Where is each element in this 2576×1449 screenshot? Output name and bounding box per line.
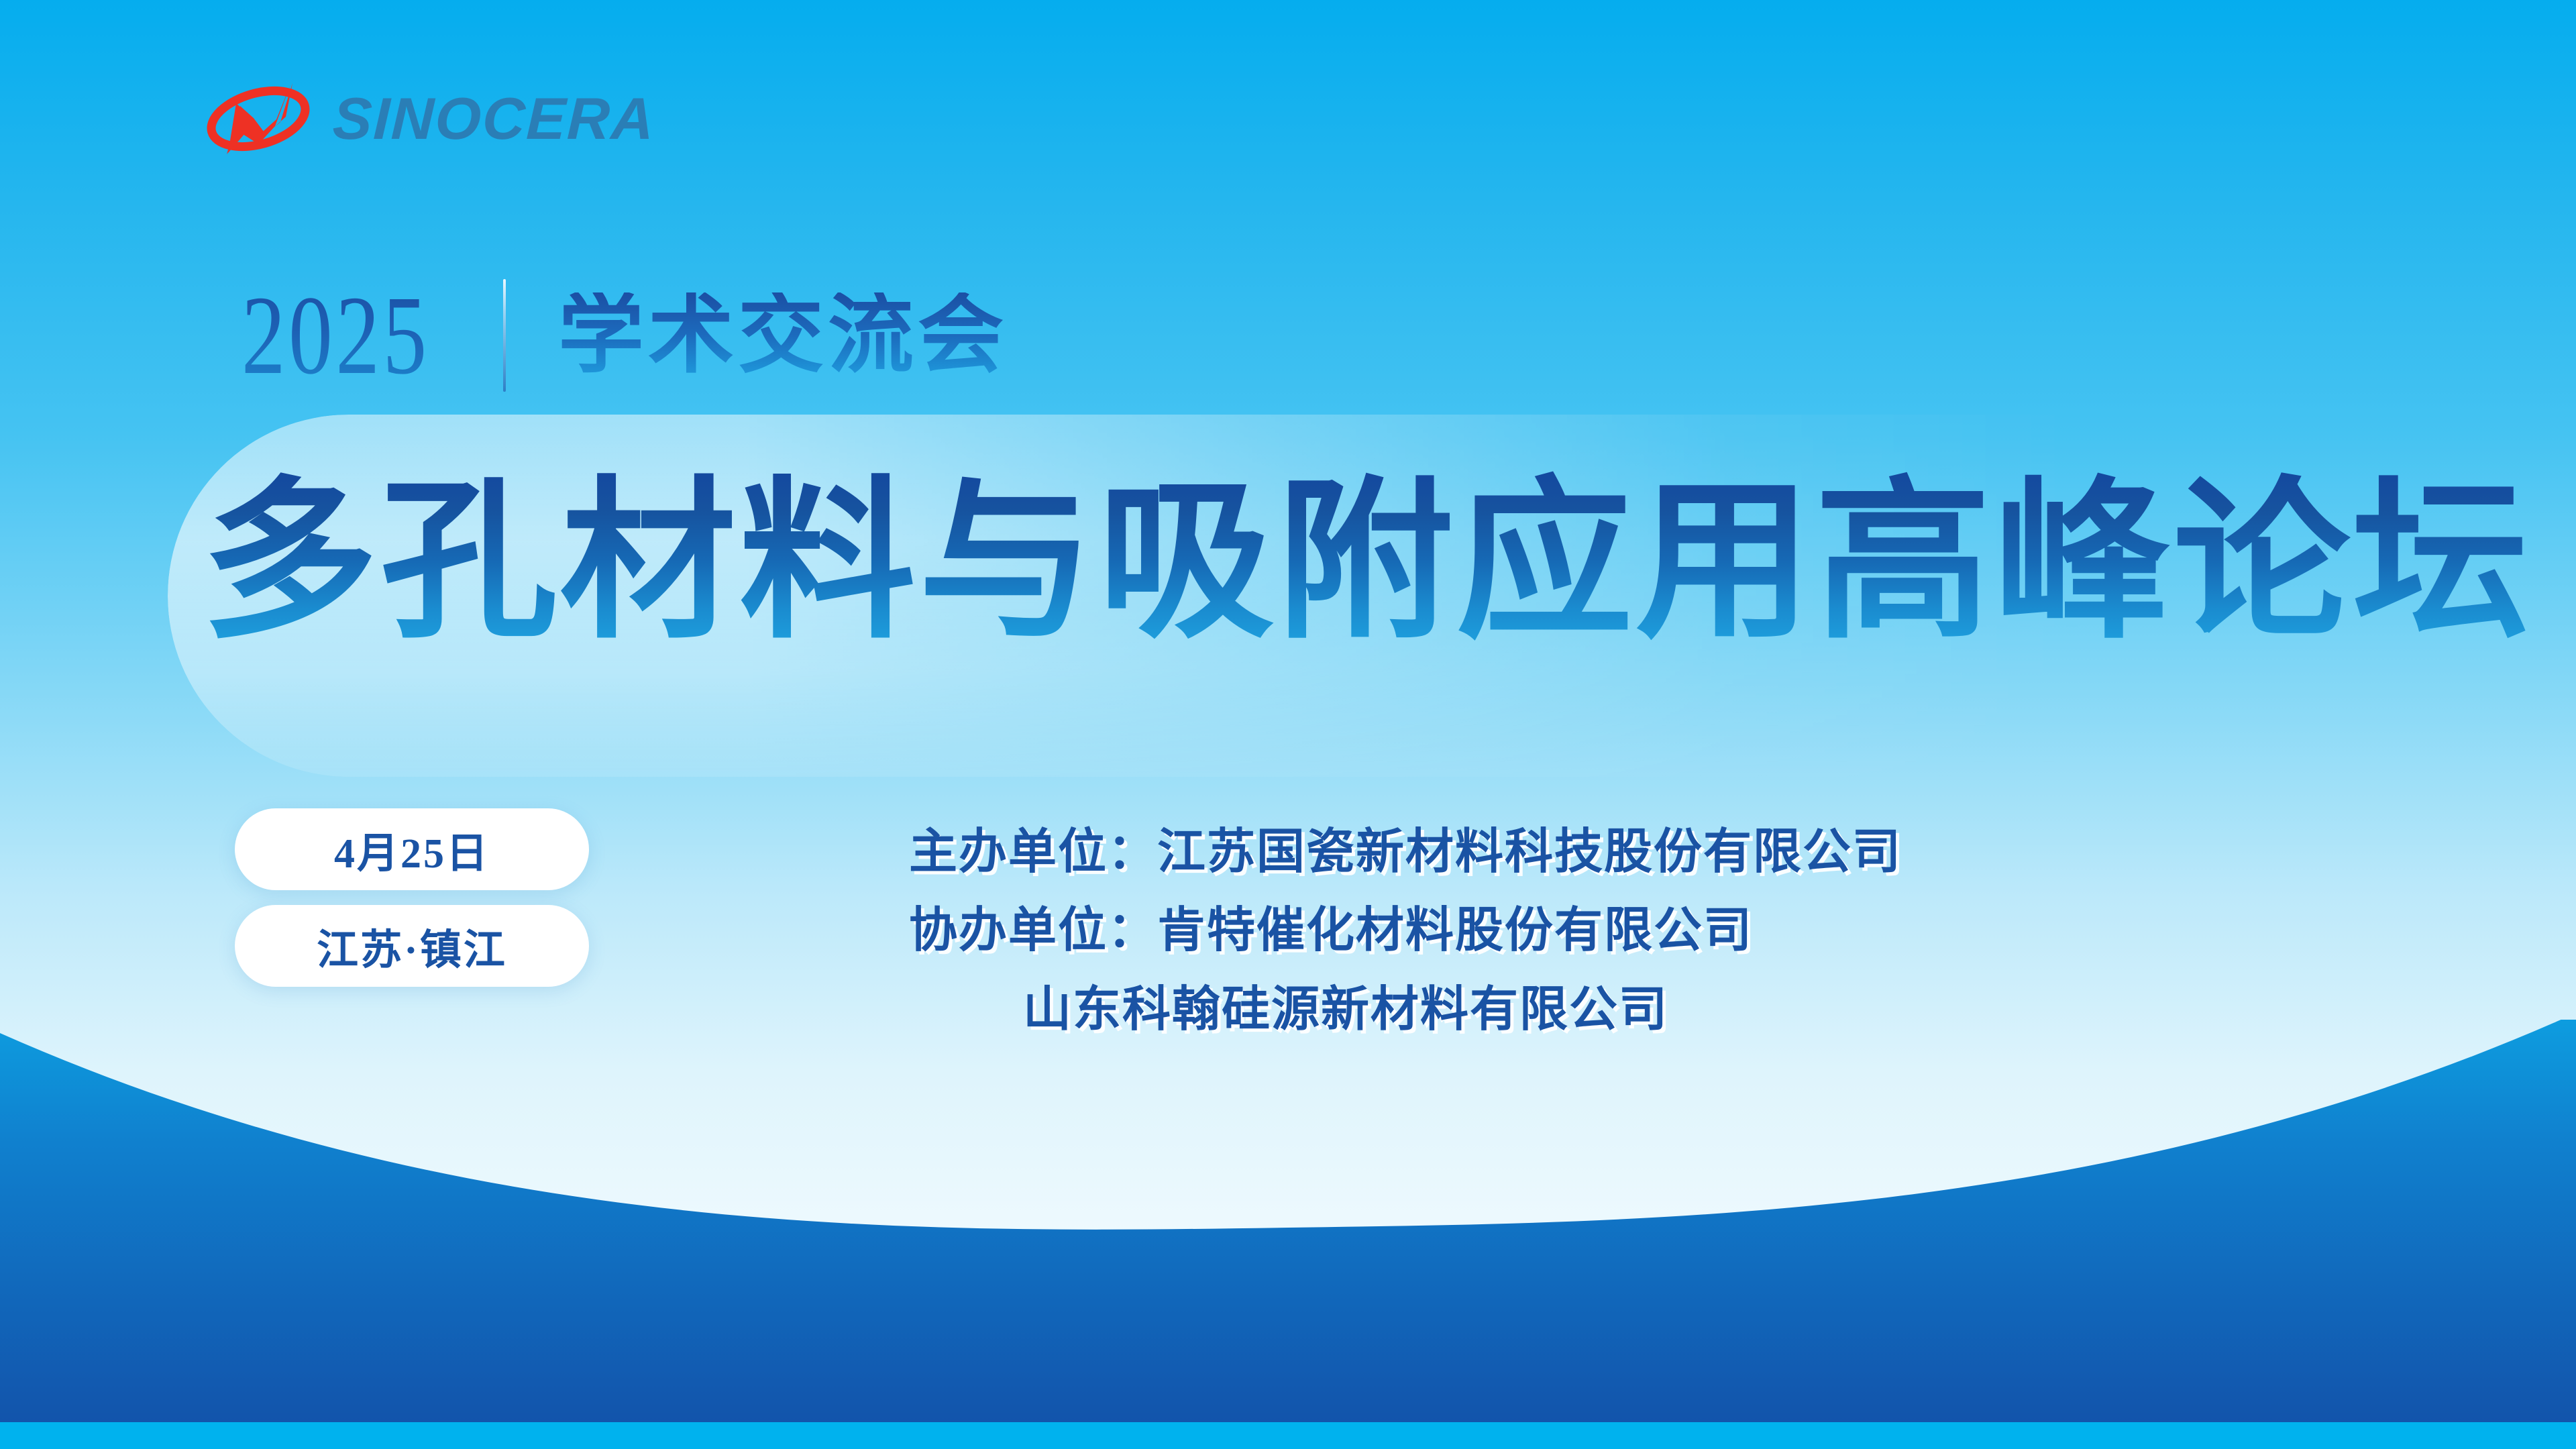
event-location-pill: 江苏·镇江 xyxy=(235,905,589,987)
bottom-wave-decoration xyxy=(0,1020,2576,1449)
event-date-pill: 4月25日 xyxy=(235,808,589,890)
bottom-accent-strip xyxy=(0,1422,2576,1449)
page-title: 多孔材料与吸附应用高峰论坛 xyxy=(201,470,2576,657)
organizers-block: 主办单位：江苏国瓷新材料科技股份有限公司 协办单位：肯特催化材料股份有限公司 山… xyxy=(909,813,1902,1049)
event-year: 2025 xyxy=(241,279,430,392)
sinocera-logo-mark-icon xyxy=(201,79,315,158)
event-meta-pills: 4月25日 江苏·镇江 xyxy=(235,808,589,987)
event-subtitle: 学术交流会 xyxy=(558,292,1008,378)
host-line: 主办单位：江苏国瓷新材料科技股份有限公司 xyxy=(909,813,1902,892)
brand-logo: SINOCERA xyxy=(201,79,655,158)
event-year-row: 2025 学术交流会 xyxy=(241,268,1008,402)
brand-wordmark: SINOCERA xyxy=(331,89,656,148)
co-host-line: 协办单位：肯特催化材料股份有限公司 xyxy=(909,892,1902,970)
year-subtitle-divider xyxy=(503,279,506,392)
conference-banner: SINOCERA 2025 学术交流会 多孔材料与吸附应用高峰论坛 4月25日 … xyxy=(0,0,2576,1449)
